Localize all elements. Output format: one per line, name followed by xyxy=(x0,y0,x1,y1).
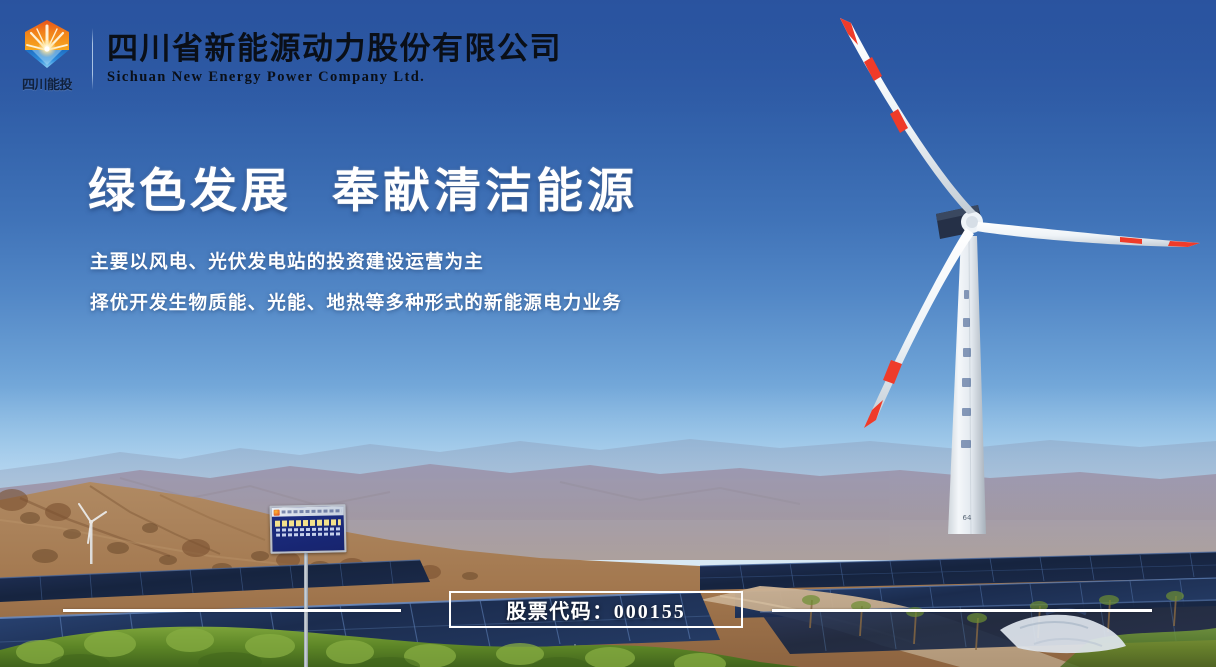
logo-caption: 四川能投 xyxy=(22,74,72,93)
stock-code-value: 000155 xyxy=(614,601,686,623)
page-title: 绿色发展奉献清洁能源 xyxy=(88,152,638,221)
hero-subline-1: 主要以风电、光伏发电站的投资建设运营为主 xyxy=(90,248,622,274)
signboard-header xyxy=(272,506,344,517)
vertical-divider-icon xyxy=(92,28,93,90)
company-logo[interactable]: 四川能投 xyxy=(14,15,80,103)
signboard-title-text xyxy=(275,519,341,526)
hero-banner: 64 xyxy=(0,0,1216,667)
signboard-header-text xyxy=(282,509,342,513)
stock-code-text: 股票代码：000155 xyxy=(506,595,686,624)
stock-code-label: 股票代码： xyxy=(506,599,614,623)
hero-subline-2: 择优开发生物质能、光能、地热等多种形式的新能源电力业务 xyxy=(90,289,622,315)
hero-sublines: 主要以风电、光伏发电站的投资建设运营为主 择优开发生物质能、光能、地热等多种形式… xyxy=(90,248,622,315)
signboard-body-line xyxy=(276,532,340,536)
stock-code-box[interactable]: 股票代码：000155 xyxy=(449,591,743,628)
signboard-badge-icon xyxy=(274,509,280,515)
company-title-block: 四川省新能源动力股份有限公司 Sichuan New Energy Power … xyxy=(107,32,562,87)
company-name-en: Sichuan New Energy Power Company Ltd. xyxy=(107,69,562,86)
svg-text:64: 64 xyxy=(963,514,972,522)
signboard-post xyxy=(304,551,308,667)
company-name-cn: 四川省新能源动力股份有限公司 xyxy=(107,32,562,67)
sichuan-energy-hexagon-logo-icon xyxy=(20,17,74,71)
signboard-body-line xyxy=(276,527,340,531)
site-header: 四川能投 四川省新能源动力股份有限公司 Sichuan New Energy P… xyxy=(0,0,620,118)
signboard-face xyxy=(270,504,347,554)
headline-part1: 绿色发展 xyxy=(88,164,292,219)
headline-part2: 奉献清洁能源 xyxy=(332,164,638,219)
project-signboard xyxy=(270,505,346,553)
